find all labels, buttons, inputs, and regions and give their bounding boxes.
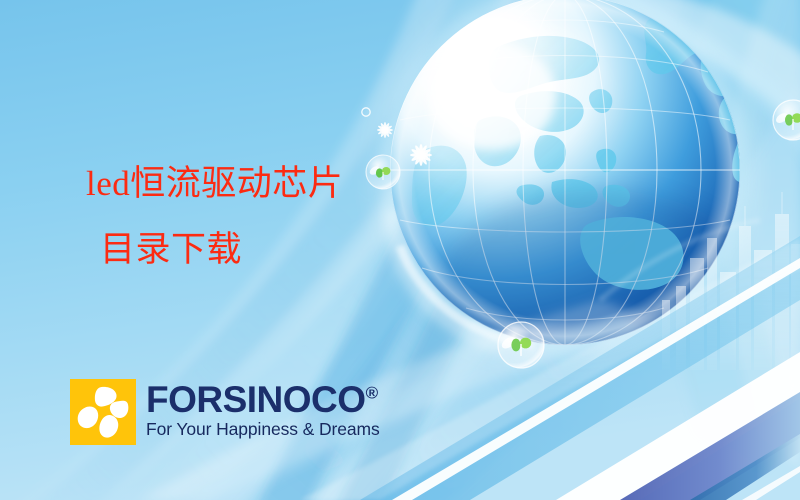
logo-tagline: For Your Happiness & Dreams — [146, 421, 380, 439]
brand-logo: FORSINOCO® For Your Happiness & Dreams — [70, 379, 380, 445]
logo-wordmark: FORSINOCO® — [146, 382, 380, 417]
four-petal-pinwheel-icon — [70, 379, 136, 445]
slide-canvas: led恒流驱动芯片 目录下载 FORSINOCO® — [0, 0, 800, 500]
registered-mark: ® — [366, 384, 378, 403]
title-line-1: led恒流驱动芯片 — [86, 166, 343, 201]
wordmark-text: FORSINOCO — [146, 379, 366, 420]
bubble-with-leaf — [498, 322, 544, 368]
slide-title: led恒流驱动芯片 目录下载 — [86, 166, 343, 267]
logo-text-group: FORSINOCO® For Your Happiness & Dreams — [146, 379, 380, 439]
forsinoco-mark — [70, 379, 136, 445]
bubble-with-leaf — [366, 155, 400, 189]
title-line-2: 目录下载 — [100, 232, 343, 267]
